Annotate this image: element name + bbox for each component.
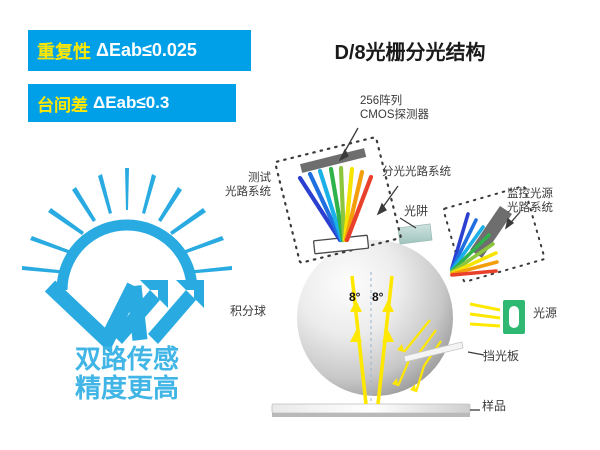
label-splitting-optics: 分光光路系统	[382, 166, 451, 180]
infographic-canvas: 重复性 ΔEab≤0.025 台间差 ΔEab≤0.3	[0, 0, 600, 450]
spectrum-fan-test	[300, 168, 371, 240]
label-test-optics-line2: 光路系统	[225, 186, 271, 200]
label-light-source: 光源	[533, 307, 557, 321]
label-monitor-optics-line2: 光路系统	[507, 202, 553, 216]
label-cmos-detector-line2: CMOS探测器	[360, 109, 429, 123]
label-monitor-optics-line1: 监控光源	[507, 188, 553, 202]
label-cmos-detector: 256阵列 CMOS探测器	[360, 95, 429, 122]
light-source-icon	[503, 300, 525, 334]
label-test-optics: 测试 光路系统	[225, 172, 271, 199]
label-light-trap: 光阱	[404, 205, 428, 219]
label-baffle: 挡光板	[483, 350, 519, 364]
source-beam	[470, 304, 500, 326]
label-monitor-optics: 监控光源 光路系统	[507, 188, 553, 215]
sample-stage	[272, 404, 470, 417]
label-integrating-sphere: 积分球	[230, 305, 266, 319]
label-angle-left: 8°	[349, 290, 360, 304]
label-sample: 样品	[482, 400, 506, 414]
integrating-sphere	[297, 240, 453, 396]
monitor-detector-bar	[470, 206, 512, 258]
optical-structure-diagram	[0, 0, 600, 450]
label-angle-right: 8°	[372, 290, 383, 304]
label-test-optics-line1: 测试	[225, 172, 271, 186]
label-cmos-detector-line1: 256阵列	[360, 95, 429, 109]
